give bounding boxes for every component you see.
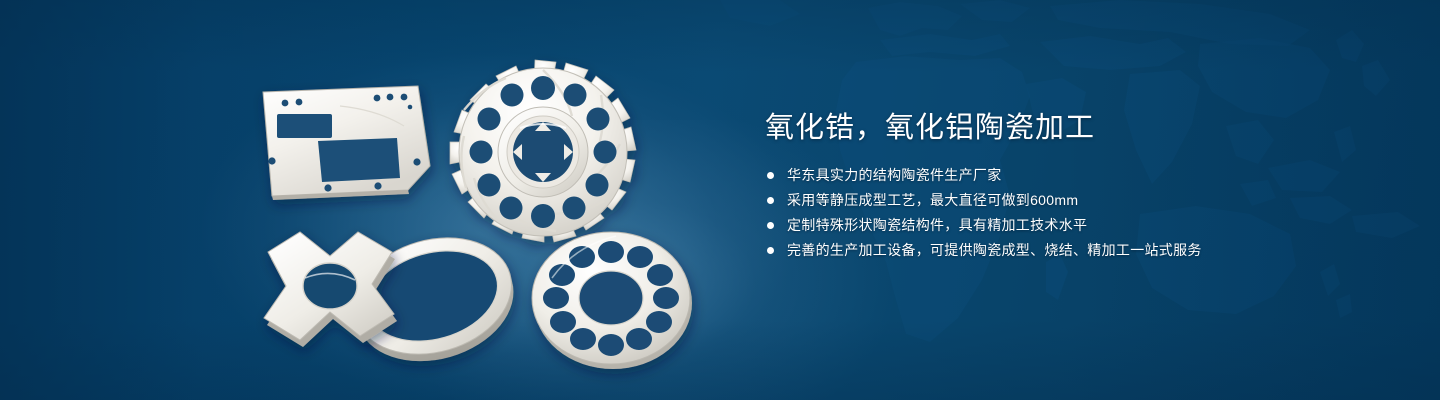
dot-bullet-icon bbox=[767, 247, 774, 254]
list-item: 华东具实力的结构陶瓷件生产厂家 bbox=[765, 164, 1385, 186]
ceramic-processing-banner: 氧化锆，氧化铝陶瓷加工 华东具实力的结构陶瓷件生产厂家 采用等静压成型工艺，最大… bbox=[0, 0, 1440, 400]
dot-bullet-icon bbox=[767, 172, 774, 179]
ceramic-impeller-wheel bbox=[450, 60, 636, 242]
dot-bullet-icon bbox=[767, 222, 774, 229]
list-item-label: 完善的生产加工设备，可提供陶瓷成型、烧结、精加工一站式服务 bbox=[787, 242, 1202, 258]
ceramic-perforated-flange bbox=[532, 232, 692, 369]
list-item-label: 华东具实力的结构陶瓷件生产厂家 bbox=[787, 167, 1002, 183]
feature-list: 华东具实力的结构陶瓷件生产厂家 采用等静压成型工艺，最大直径可做到600mm 定… bbox=[765, 164, 1385, 261]
dot-bullet-icon bbox=[767, 197, 774, 204]
list-item: 采用等静压成型工艺，最大直径可做到600mm bbox=[765, 189, 1385, 211]
page-title: 氧化锆，氧化铝陶瓷加工 bbox=[765, 108, 1385, 148]
ceramic-products-group bbox=[0, 0, 760, 400]
list-item: 定制特殊形状陶瓷结构件，具有精加工技术水平 bbox=[765, 214, 1385, 236]
list-item-label: 采用等静压成型工艺，最大直径可做到600mm bbox=[787, 192, 1078, 208]
list-item: 完善的生产加工设备，可提供陶瓷成型、烧结、精加工一站式服务 bbox=[765, 239, 1385, 261]
banner-copy: 氧化锆，氧化铝陶瓷加工 华东具实力的结构陶瓷件生产厂家 采用等静压成型工艺，最大… bbox=[765, 108, 1385, 264]
list-item-label: 定制特殊形状陶瓷结构件，具有精加工技术水平 bbox=[787, 217, 1087, 233]
ceramic-machined-plate bbox=[263, 86, 430, 200]
